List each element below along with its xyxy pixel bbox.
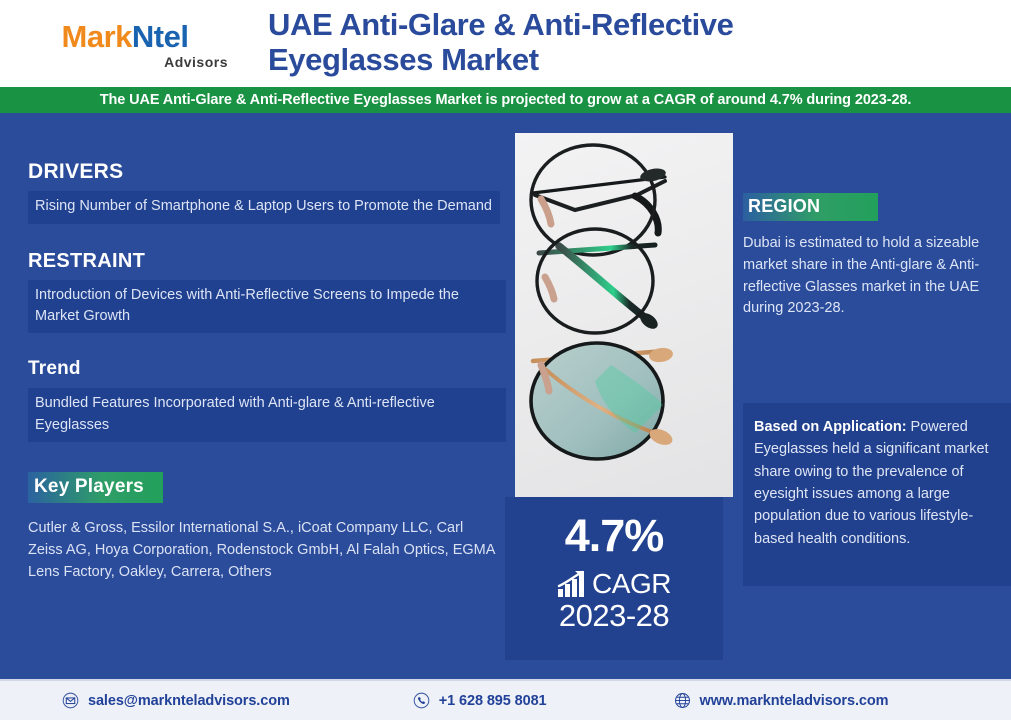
- globe-icon: [674, 692, 691, 709]
- cagr-value: 4.7%: [505, 513, 723, 558]
- spacer-a: [28, 224, 508, 250]
- logo-text-mark: Mark: [62, 19, 132, 54]
- drivers-heading: DRIVERS: [28, 160, 508, 183]
- restraint-heading: RESTRAINT: [28, 250, 508, 272]
- spacer-c: [28, 442, 508, 472]
- header-bar: MarkNtel Advisors UAE Anti-Glare & Anti-…: [0, 0, 1011, 87]
- region-chip: REGION: [743, 193, 878, 221]
- phone-icon: [413, 692, 430, 709]
- region-heading: REGION: [748, 196, 820, 216]
- application-block: Based on Application: Powered Eyeglasses…: [743, 403, 1011, 586]
- logo-wordmark: MarkNtel: [62, 21, 189, 54]
- footer-email-text: sales@marknteladvisors.com: [88, 693, 290, 709]
- footer-bar: sales@marknteladvisors.com +1 628 895 80…: [0, 679, 1011, 720]
- footer-email[interactable]: sales@marknteladvisors.com: [62, 692, 290, 709]
- bar-chart-growth-icon: [557, 570, 587, 598]
- application-text: Based on Application: Powered Eyeglasses…: [754, 416, 999, 550]
- footer-phone-text: +1 628 895 8081: [439, 693, 547, 709]
- glasses-pair-2: [537, 229, 661, 333]
- logo-subtitle: Advisors: [164, 54, 228, 70]
- eyeglasses-photo: [515, 133, 733, 497]
- headline-banner: The UAE Anti-Glare & Anti-Reflective Eye…: [0, 87, 1011, 113]
- page-title: UAE Anti-Glare & Anti-Reflective Eyeglas…: [250, 0, 870, 77]
- glasses-pair-1: [531, 145, 667, 255]
- cagr-label-row: CAGR: [505, 570, 723, 598]
- trend-heading: Trend: [28, 359, 508, 380]
- footer-website[interactable]: www.marknteladvisors.com: [674, 692, 889, 709]
- trend-text: Bundled Features Incorporated with Anti-…: [28, 388, 506, 442]
- spacer-b: [28, 333, 508, 359]
- logo-text-ntel: Ntel: [132, 19, 189, 54]
- glasses-pair-3: [531, 343, 675, 459]
- footer-phone[interactable]: +1 628 895 8081: [413, 692, 547, 709]
- key-players-heading: Key Players: [34, 476, 144, 497]
- region-text: Dubai is estimated to hold a sizeable ma…: [743, 233, 1005, 320]
- application-body: Powered Eyeglasses held a significant ma…: [754, 419, 989, 547]
- infographic-page: MarkNtel Advisors UAE Anti-Glare & Anti-…: [0, 0, 1011, 720]
- footer-website-text: www.marknteladvisors.com: [700, 693, 889, 709]
- cagr-label: CAGR: [592, 570, 671, 598]
- cagr-block: 4.7% CAGR 2023-28: [505, 497, 723, 660]
- company-logo[interactable]: MarkNtel Advisors: [0, 0, 250, 87]
- key-players-text: Cutler & Gross, Essilor International S.…: [28, 517, 498, 583]
- key-players-chip: Key Players: [28, 472, 163, 503]
- restraint-text: Introduction of Devices with Anti-Reflec…: [28, 280, 506, 334]
- envelope-icon: [62, 692, 79, 709]
- eyeglasses-illustration: [515, 133, 733, 497]
- application-label: Based on Application:: [754, 419, 907, 435]
- headline-banner-text: The UAE Anti-Glare & Anti-Reflective Eye…: [100, 92, 912, 108]
- cagr-years: 2023-28: [505, 600, 723, 631]
- left-column: DRIVERS Rising Number of Smartphone & La…: [28, 160, 508, 583]
- drivers-text: Rising Number of Smartphone & Laptop Use…: [28, 191, 500, 223]
- region-block: REGION Dubai is estimated to hold a size…: [743, 193, 1005, 320]
